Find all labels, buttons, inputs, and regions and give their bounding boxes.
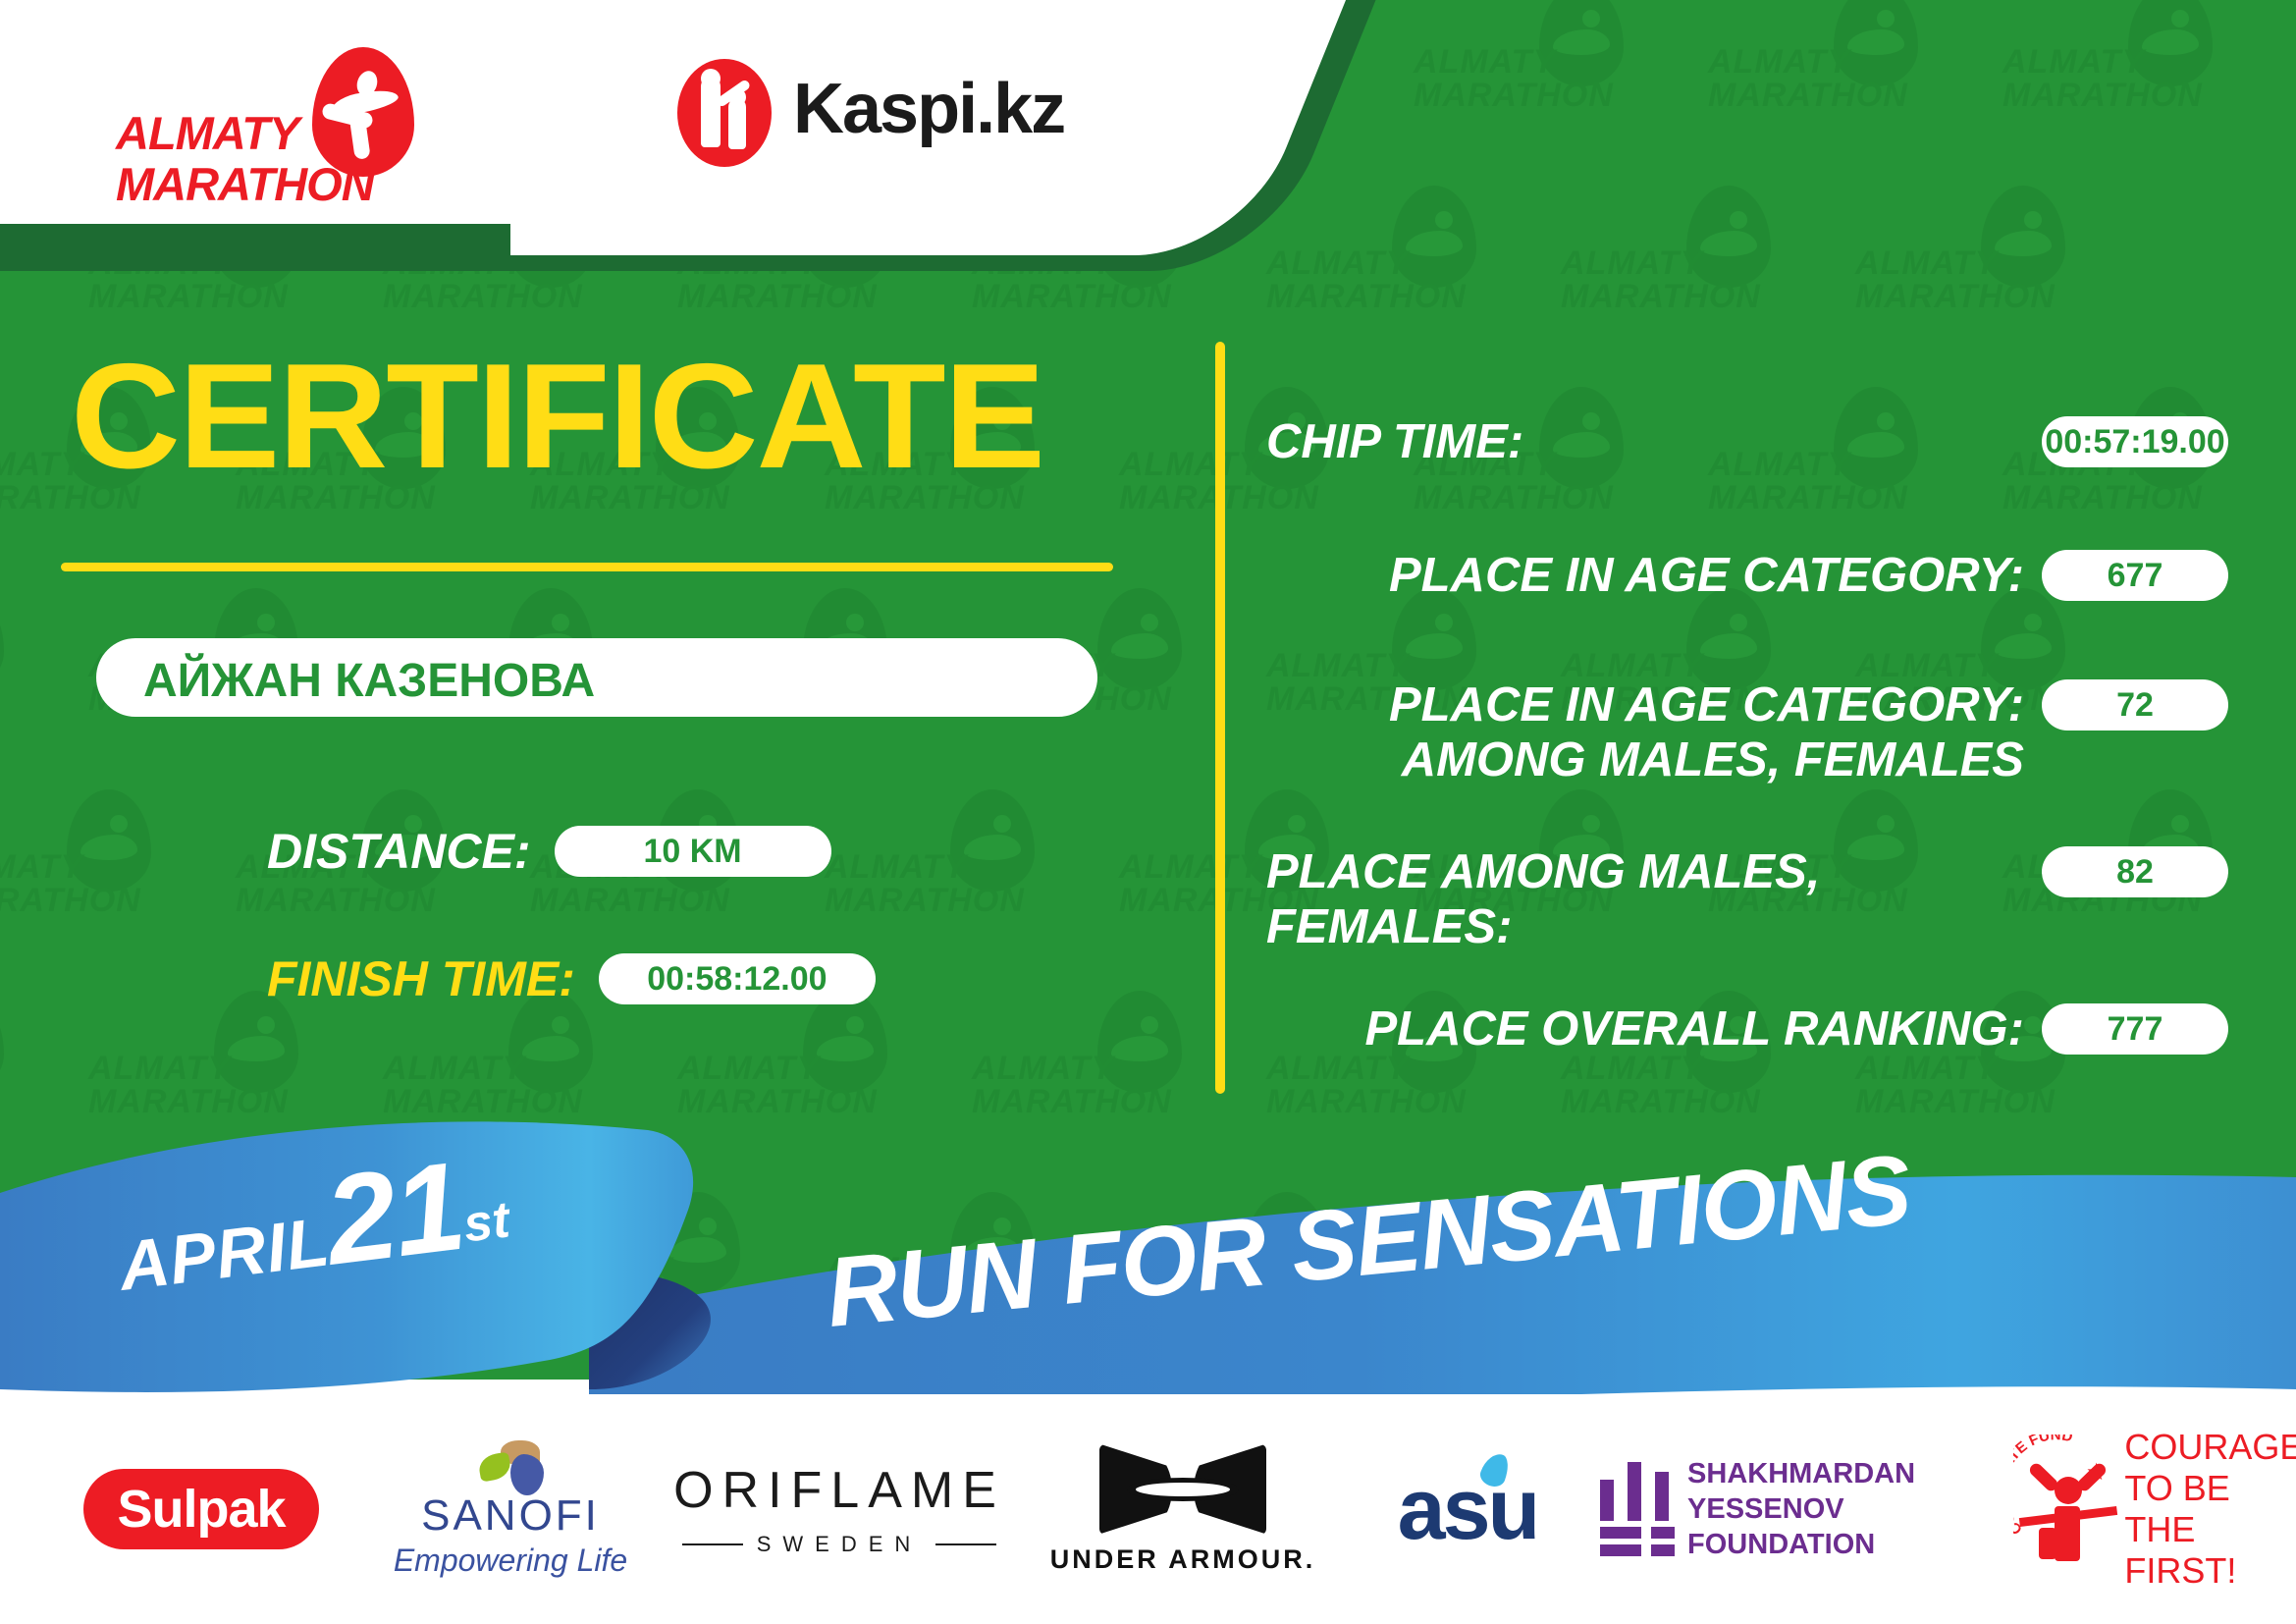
stat-row: PLACE OVERALL RANKING: 777 — [1266, 1001, 2228, 1056]
oriflame-block: ORIFLAME SWEDEN — [673, 1461, 1005, 1557]
stat-value: 00:57:19.00 — [2042, 416, 2228, 467]
almaty-marathon-wordmark: ALMATY MARATHON — [116, 108, 322, 210]
asu-block: asu — [1398, 1459, 1538, 1559]
event-ribbon: APRIL21st RUN FOR SENSATIONS — [0, 1095, 2296, 1419]
kaspi-family-icon — [677, 59, 772, 167]
stat-value: 72 — [2042, 679, 2228, 731]
stat-value: 677 — [2042, 550, 2228, 601]
yessenov-bars-icon — [1600, 1462, 1662, 1556]
courage-runner-icon: ★ — [2021, 1455, 2110, 1563]
kaspi-logo: Kaspi.kz — [677, 55, 1090, 173]
stat-row: PLACE IN AGE CATEGORY:AMONG MALES, FEMAL… — [1266, 677, 2228, 787]
stat-label: PLACE IN AGE CATEGORY:AMONG MALES, FEMAL… — [1266, 677, 2042, 787]
stat-value: 777 — [2042, 1003, 2228, 1055]
under-armour-block: UNDER ARMOUR. — [1050, 1444, 1316, 1575]
almaty-marathon-logo: ALMATY MARATHON — [116, 47, 430, 185]
sponsor-logo-yessenov: SHAKHMARDAN YESSENOV FOUNDATION — [1600, 1394, 2012, 1624]
watermark-tile: ALMATYMARATHON — [1266, 182, 1561, 417]
column-divider — [1215, 342, 1225, 1094]
oriflame-tagline-row: SWEDEN — [673, 1532, 1005, 1557]
almaty-line: ALMATY — [116, 108, 322, 159]
under-armour-wordmark: UNDER ARMOUR. — [1050, 1544, 1316, 1575]
oriflame-rule-left — [682, 1543, 743, 1545]
sulpak-pill: Sulpak — [83, 1469, 318, 1549]
stat-row: PLACE AMONG MALES,FEMALES: 82 — [1266, 844, 2228, 954]
ribbon-day: 21 — [318, 1136, 470, 1292]
stat-label: CHIP TIME: — [1266, 414, 2042, 469]
sanofi-tagline: Empowering Life — [394, 1543, 627, 1579]
stat-label: PLACE AMONG MALES,FEMALES: — [1266, 844, 2042, 954]
stat-row: PLACE IN AGE CATEGORY: 677 — [1266, 548, 2228, 603]
stat-label: PLACE OVERALL RANKING: — [1266, 1001, 2042, 1056]
watermark-tile: ALMATYMARATHON — [1855, 182, 2150, 417]
watermark-tile: ALMATYMARATHON — [0, 785, 236, 1021]
sponsor-logo-under-armour: UNDER ARMOUR. — [1041, 1394, 1325, 1624]
yessenov-text: SHAKHMARDAN YESSENOV FOUNDATION — [1687, 1456, 2012, 1562]
sponsor-logo-oriflame: ORIFLAME SWEDEN — [677, 1394, 1001, 1624]
header-logos: ALMATY MARATHON Kaspi.kz — [0, 0, 1178, 226]
courage-line-3: THE FIRST! — [2124, 1509, 2296, 1592]
finish-time-row: FINISH TIME: 00:58:12.00 — [267, 950, 876, 1007]
sanofi-mark-icon — [477, 1440, 544, 1495]
courage-slogan: COURAGE TO BE THE FIRST! — [2124, 1427, 2296, 1592]
sponsor-logo-sulpak: Sulpak — [59, 1394, 344, 1624]
distance-value: 10 KM — [555, 826, 831, 877]
courage-line-1: COURAGE — [2124, 1427, 2296, 1468]
yessenov-block: SHAKHMARDAN YESSENOV FOUNDATION — [1600, 1456, 2012, 1562]
sponsor-footer: Sulpak SANOFI Empowering Life ORIFLAME S… — [0, 1394, 2296, 1624]
sulpak-wordmark: Sulpak — [117, 1480, 285, 1539]
watermark-tile: ALMATYMARATHON — [1561, 182, 1855, 417]
yessenov-name: SHAKHMARDAN YESSENOV — [1687, 1456, 2012, 1527]
header-plaque-shadow-flat — [0, 224, 510, 255]
marathon-line: MARATHON — [116, 159, 322, 210]
distance-row: DISTANCE: 10 KM — [267, 823, 831, 880]
sponsor-logo-courage: CORPORATE FUND ★ COURAGE TO BE THE FIRST… — [2032, 1394, 2296, 1624]
stat-row: CHIP TIME: 00:57:19.00 — [1266, 414, 2228, 469]
kaspi-wordmark: Kaspi.kz — [793, 69, 1064, 149]
page-title: CERTIFICATE — [71, 342, 1043, 491]
watermark-tile: ALMATYMARATHON — [0, 584, 88, 820]
under-armour-icon — [1099, 1444, 1266, 1535]
oriflame-tagline: SWEDEN — [757, 1532, 923, 1557]
stat-label: PLACE IN AGE CATEGORY: — [1266, 548, 2042, 603]
sanofi-wordmark: SANOFI — [394, 1491, 627, 1541]
participant-name-value: АЙЖАН КАЗЕНОВА — [143, 654, 595, 708]
courage-block: CORPORATE FUND ★ COURAGE TO BE THE FIRST… — [2021, 1427, 2296, 1592]
participant-name-field: АЙЖАН КАЗЕНОВА — [96, 638, 1097, 717]
courage-line-2: TO BE — [2124, 1468, 2296, 1509]
sanofi-block: SANOFI Empowering Life — [394, 1440, 627, 1579]
title-underline — [61, 563, 1113, 571]
ribbon-month: APRIL — [115, 1203, 334, 1305]
stat-value: 82 — [2042, 846, 2228, 897]
yessenov-tagline: FOUNDATION — [1687, 1527, 2012, 1562]
asu-wordmark: asu — [1398, 1459, 1538, 1559]
sponsor-logo-sanofi: SANOFI Empowering Life — [363, 1394, 658, 1624]
finish-time-value: 00:58:12.00 — [599, 953, 876, 1004]
ribbon-day-suffix: st — [460, 1191, 512, 1253]
distance-label: DISTANCE: — [267, 823, 531, 880]
sponsor-logo-asu: asu — [1345, 1394, 1590, 1624]
oriflame-rule-right — [935, 1543, 996, 1545]
certificate-page: ALMATYMARATHONALMATYMARATHONALMATYMARATH… — [0, 0, 2296, 1624]
oriflame-wordmark: ORIFLAME — [673, 1461, 1005, 1520]
finish-time-label: FINISH TIME: — [267, 950, 575, 1007]
